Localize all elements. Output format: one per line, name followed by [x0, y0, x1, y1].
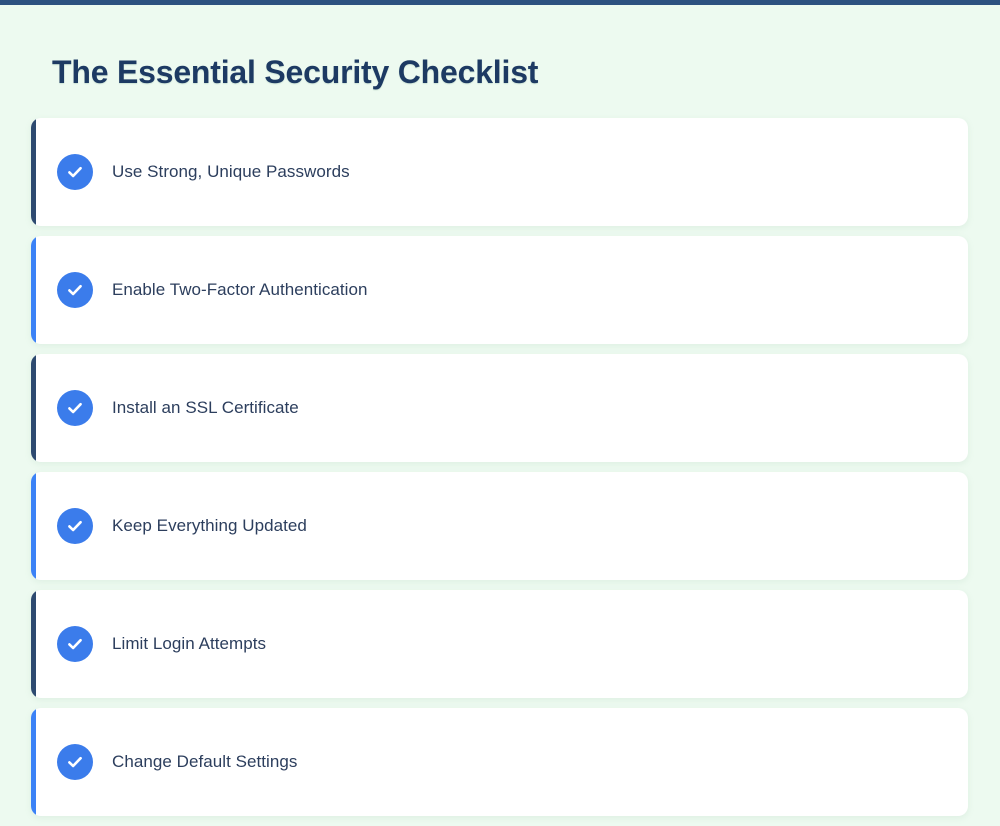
checklist-item-label: Use Strong, Unique Passwords [112, 162, 350, 182]
check-circle-icon[interactable] [57, 390, 93, 426]
checklist-item-label: Keep Everything Updated [112, 516, 307, 536]
checklist-item[interactable]: Limit Login Attempts [31, 590, 968, 698]
item-accent-bar [31, 472, 36, 580]
checklist-item[interactable]: Enable Two-Factor Authentication [31, 236, 968, 344]
top-accent-bar [0, 0, 1000, 5]
check-circle-icon[interactable] [57, 508, 93, 544]
checklist-item-label: Install an SSL Certificate [112, 398, 299, 418]
checklist-item-label: Limit Login Attempts [112, 634, 266, 654]
check-circle-icon[interactable] [57, 626, 93, 662]
checklist-item-label: Change Default Settings [112, 752, 297, 772]
checklist-item[interactable]: Use Strong, Unique Passwords [31, 118, 968, 226]
checklist: Use Strong, Unique PasswordsEnable Two-F… [31, 118, 968, 826]
check-circle-icon[interactable] [57, 272, 93, 308]
checklist-item-label: Enable Two-Factor Authentication [112, 280, 368, 300]
item-accent-bar [31, 590, 36, 698]
check-circle-icon[interactable] [57, 154, 93, 190]
check-circle-icon[interactable] [57, 744, 93, 780]
item-accent-bar [31, 354, 36, 462]
item-accent-bar [31, 118, 36, 226]
item-accent-bar [31, 236, 36, 344]
page-title: The Essential Security Checklist [52, 54, 538, 91]
checklist-item[interactable]: Keep Everything Updated [31, 472, 968, 580]
checklist-item[interactable]: Install an SSL Certificate [31, 354, 968, 462]
